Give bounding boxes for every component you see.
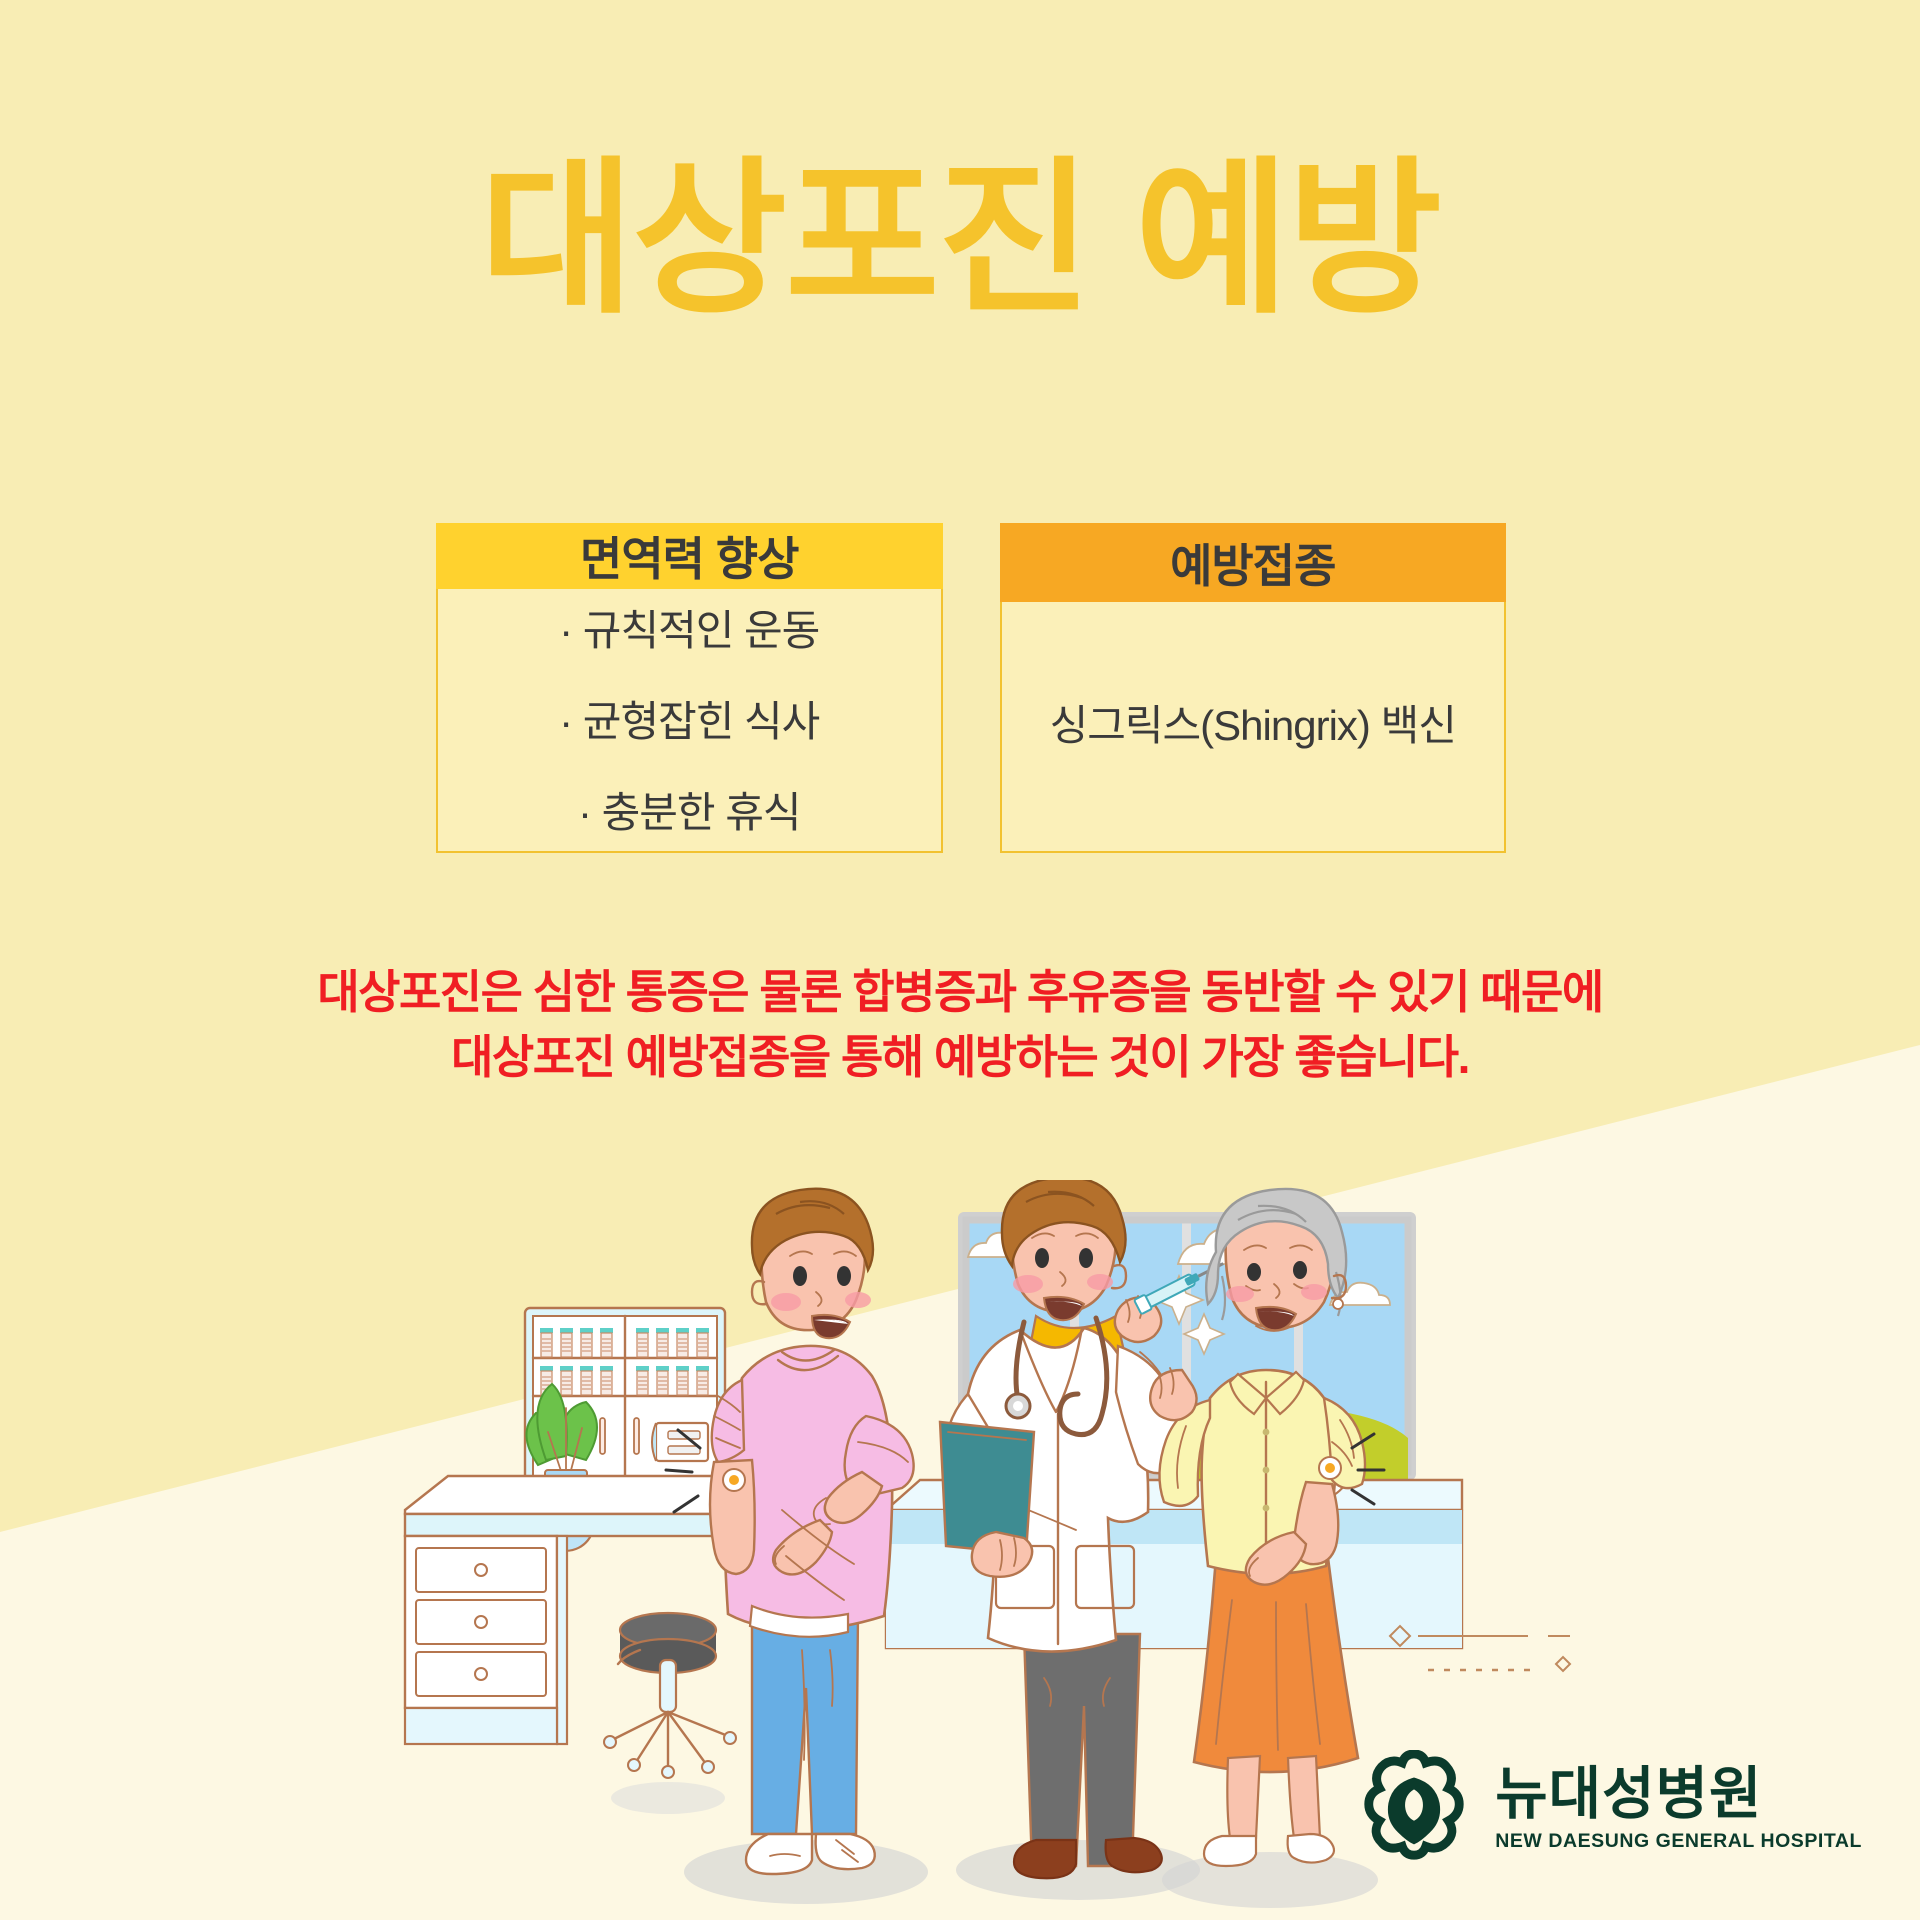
list-item: · 충분한 휴식 [578,779,801,840]
info-box-vaccine-header: 예방접종 [1000,523,1507,602]
notice-line-2: 대상포진 예방접종을 통해 예방하는 것이 가장 좋습니다. [0,1025,1920,1090]
medicine-box [652,1423,708,1461]
notice-line-1: 대상포진은 심한 통증은 물론 합병증과 후유증을 동반할 수 있기 때문에 [0,960,1920,1025]
hospital-logo: 뉴대성병원 NEW DAESUNG GENERAL HOSPITAL [1355,1750,1862,1868]
info-box-immunity-header: 면역력 향상 [436,523,943,589]
notice-line-2-strong: 대상포진 예방접종 [451,1031,789,1083]
list-item: 싱그릭스(Shingrix) 백신 [1050,692,1456,753]
info-boxes: 면역력 향상 · 규칙적인 운동 · 균형잡힌 식사 · 충분한 휴식 예방접종… [436,523,1506,853]
hospital-name-korean: 뉴대성병원 [1495,1766,1762,1823]
info-box-immunity-body: · 규칙적인 운동 · 균형잡힌 식사 · 충분한 휴식 [438,587,941,856]
page-title: 대상포진 예방 [0,150,1920,328]
info-box-vaccine-body: 싱그릭스(Shingrix) 백신 [1002,600,1505,851]
hospital-emblem-icon [1355,1750,1473,1868]
hospital-logo-text: 뉴대성병원 NEW DAESUNG GENERAL HOSPITAL [1495,1766,1862,1853]
list-item: · 규칙적인 운동 [559,597,819,658]
shadow-woman [1162,1852,1378,1908]
notice-line-2-rest: 을 통해 예방하는 것이 가장 좋습니다. [789,1031,1469,1083]
info-box-vaccine: 예방접종 싱그릭스(Shingrix) 백신 [1000,523,1507,853]
list-item: · 균형잡힌 식사 [559,688,819,749]
info-box-immunity: 면역력 향상 · 규칙적인 운동 · 균형잡힌 식사 · 충분한 휴식 [436,523,943,853]
hospital-name-english: NEW DAESUNG GENERAL HOSPITAL [1495,1830,1862,1853]
notice-paragraph: 대상포진은 심한 통증은 물론 합병증과 후유증을 동반할 수 있기 때문에 대… [0,960,1920,1091]
stool [604,1613,736,1814]
